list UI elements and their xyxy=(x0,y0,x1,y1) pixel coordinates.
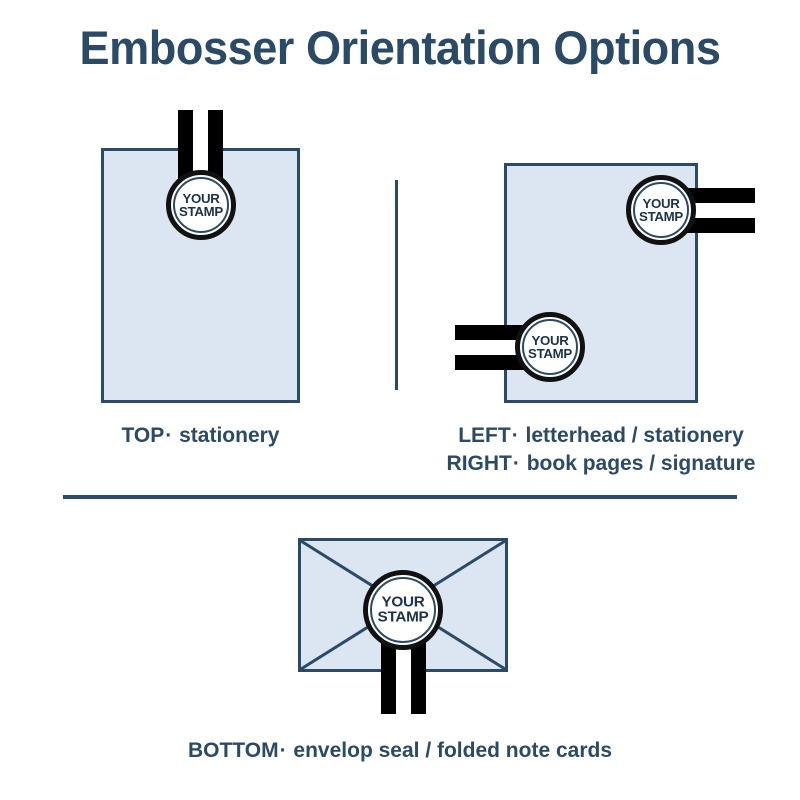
page-title: Embosser Orientation Options xyxy=(16,20,784,76)
diagram-canvas: Embosser Orientation Options YOUR STAMP … xyxy=(0,0,800,800)
caption-uses: stationery xyxy=(179,424,279,447)
seal-text: YOUR STAMP xyxy=(363,595,443,626)
caption-position: BOTTOM xyxy=(188,739,279,762)
vertical-divider xyxy=(395,180,398,390)
caption-uses: letterhead / stationery xyxy=(526,424,744,447)
caption-position: LEFT xyxy=(458,424,511,447)
seal-text-line1: YOUR xyxy=(625,197,696,210)
caption-left-orientation: LEFT· letterhead / stationery xyxy=(411,422,791,450)
seal-text-line1: YOUR xyxy=(165,192,236,205)
horizontal-divider xyxy=(63,495,737,499)
caption-uses: envelop seal / folded note cards xyxy=(293,739,612,762)
caption-separator: · xyxy=(164,424,173,447)
caption-uses: book pages / signature xyxy=(527,452,756,475)
seal-text: YOUR STAMP xyxy=(515,334,585,361)
caption-separator: · xyxy=(279,739,288,762)
embosser-seal-icon-left: YOUR STAMP xyxy=(515,312,585,382)
embosser-seal-icon: YOUR STAMP xyxy=(363,570,443,650)
embosser-seal-icon: YOUR STAMP xyxy=(166,170,236,240)
seal-text-line2: STAMP xyxy=(514,347,585,360)
seal-text-line1: YOUR xyxy=(362,595,444,610)
seal-text-line1: YOUR xyxy=(514,334,585,347)
seal-text: YOUR STAMP xyxy=(166,192,236,219)
caption-position: RIGHT xyxy=(447,452,512,475)
caption-separator: · xyxy=(511,424,520,447)
caption-position: TOP xyxy=(121,424,164,447)
caption-top-orientation: TOP· stationery xyxy=(101,422,300,450)
seal-text-line2: STAMP xyxy=(625,210,696,223)
caption-right-orientation: RIGHT· book pages / signature xyxy=(411,450,791,478)
seal-text-line2: STAMP xyxy=(362,610,444,625)
embosser-seal-icon-right: YOUR STAMP xyxy=(626,175,696,245)
caption-separator: · xyxy=(512,452,521,475)
caption-bottom-orientation: BOTTOM· envelop seal / folded note cards xyxy=(100,737,700,765)
seal-text: YOUR STAMP xyxy=(626,197,696,224)
seal-text-line2: STAMP xyxy=(165,205,236,218)
